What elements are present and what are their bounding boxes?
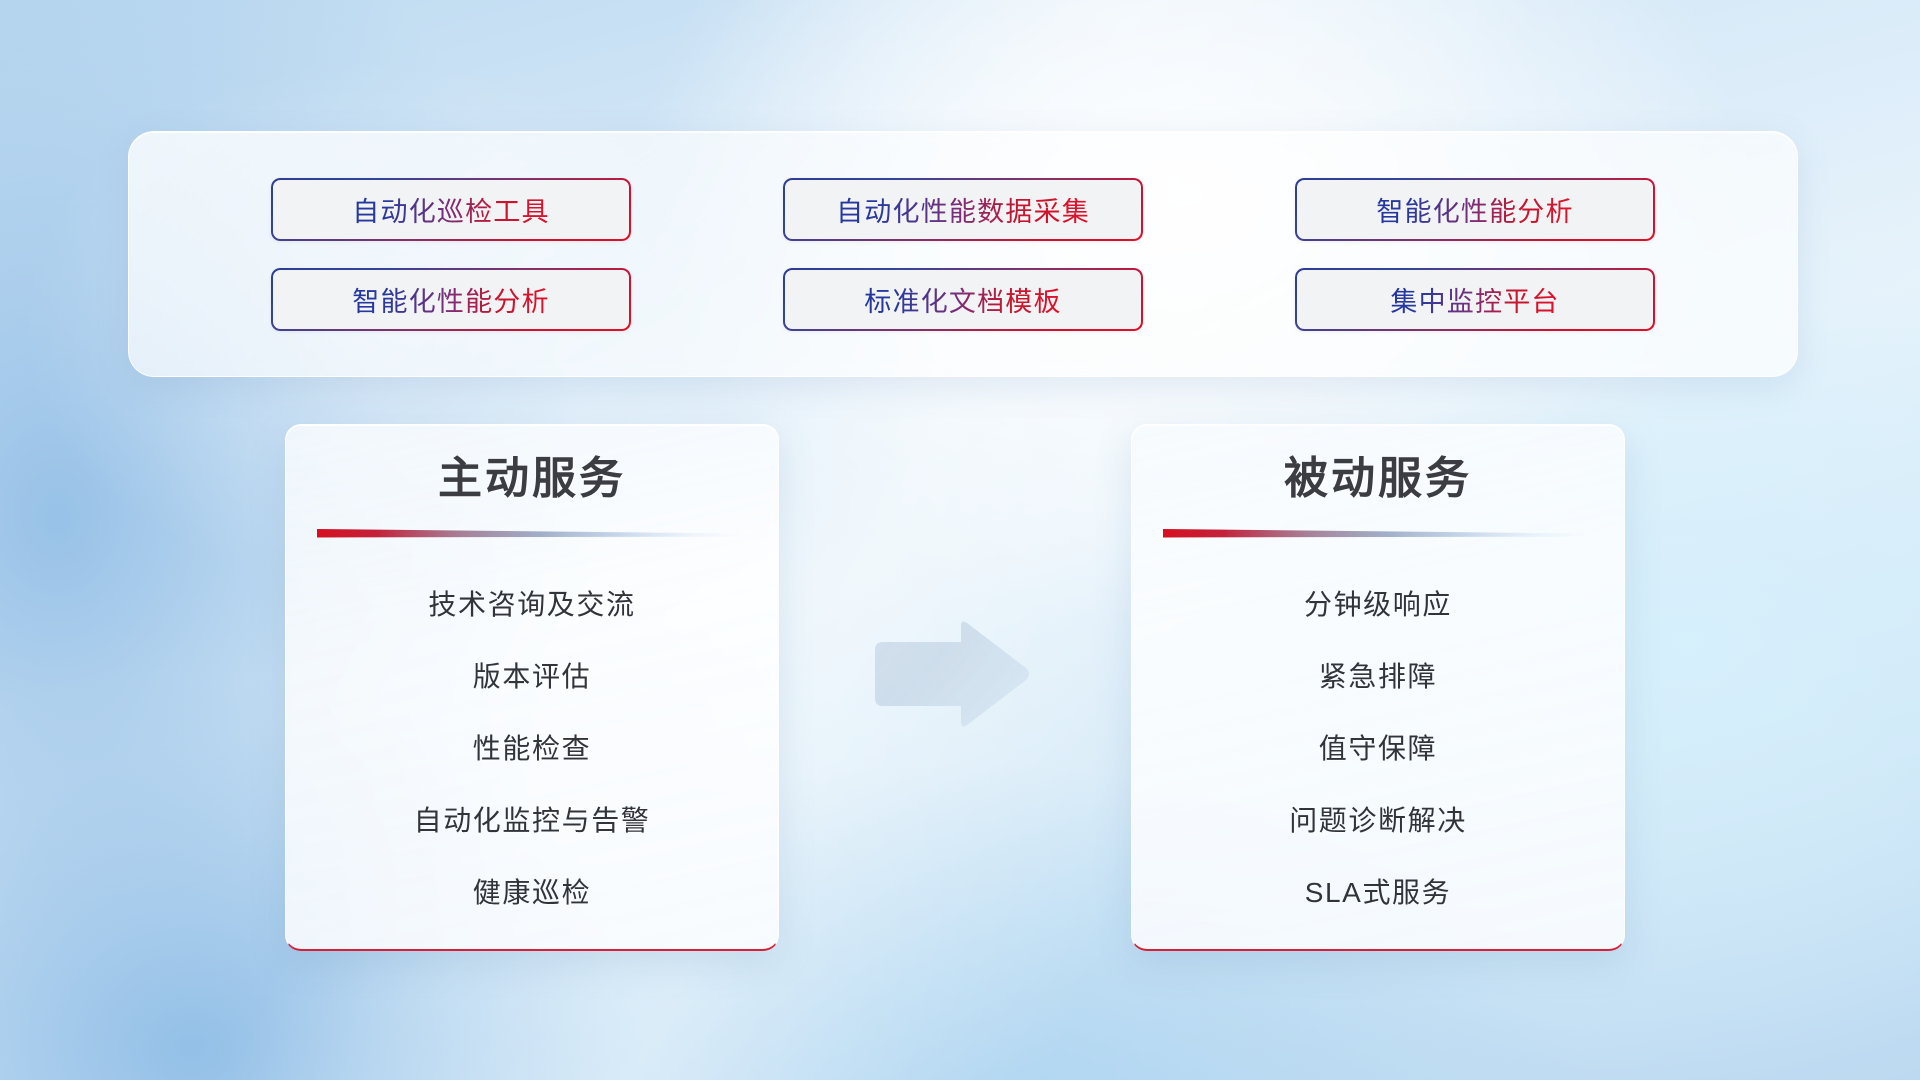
list-item[interactable]: 健康巡检 (473, 855, 591, 927)
list-item[interactable]: 值守保障 (1319, 711, 1437, 783)
capability-cell: 自动化性能数据采集 (707, 178, 1219, 241)
capability-tag-standardized-document-template[interactable]: 标准化文档模板 (783, 268, 1143, 331)
capability-tag-automated-inspection-tool[interactable]: 自动化巡检工具 (271, 178, 631, 241)
list-item[interactable]: 紧急排障 (1319, 639, 1437, 711)
capability-tag-automated-performance-data-collection[interactable]: 自动化性能数据采集 (783, 178, 1143, 241)
card-proactive-service[interactable]: 主动服务 技术咨询及交流 版本评估 性能检查 自动化监控与告警 健康巡检 (285, 424, 779, 951)
card-divider (1163, 527, 1593, 541)
arrow-right-icon (869, 618, 1031, 730)
capability-cell: 集中监控平台 (1219, 268, 1731, 331)
card-item-list: 技术咨询及交流 版本评估 性能检查 自动化监控与告警 健康巡检 (286, 567, 778, 927)
capability-tag-label: 自动化性能数据采集 (836, 190, 1090, 229)
list-item[interactable]: 分钟级响应 (1304, 567, 1452, 639)
card-title: 主动服务 (438, 451, 626, 506)
capability-tag-intelligent-performance-analysis[interactable]: 智能化性能分析 (1295, 178, 1655, 241)
capabilities-panel: 自动化巡检工具 自动化性能数据采集 智能化性能分析 智能化性能分析 标准化文档模… (128, 131, 1798, 377)
divider-taper-icon (317, 527, 747, 541)
divider-taper-icon (1163, 527, 1593, 541)
arrow-right-shape (869, 618, 1031, 730)
capability-tag-centralized-monitoring-platform[interactable]: 集中监控平台 (1295, 268, 1655, 331)
list-item[interactable]: 技术咨询及交流 (428, 567, 635, 639)
list-item[interactable]: 自动化监控与告警 (414, 783, 651, 855)
card-title: 被动服务 (1284, 451, 1472, 506)
list-item[interactable]: SLA式服务 (1305, 855, 1452, 927)
card-item-list: 分钟级响应 紧急排障 值守保障 问题诊断解决 SLA式服务 (1132, 567, 1624, 927)
capability-tag-label: 自动化巡检工具 (352, 190, 549, 229)
capability-row-1: 自动化巡检工具 自动化性能数据采集 智能化性能分析 (195, 178, 1731, 241)
capability-cell: 自动化巡检工具 (195, 178, 707, 241)
card-reactive-service[interactable]: 被动服务 分钟级响应 紧急排障 值守保障 问题诊断解决 SLA式服务 (1131, 424, 1625, 951)
capability-cell: 标准化文档模板 (707, 268, 1219, 331)
list-item[interactable]: 版本评估 (473, 639, 591, 711)
capability-cell: 智能化性能分析 (1219, 178, 1731, 241)
capability-tag-label: 智能化性能分析 (1376, 190, 1573, 229)
capability-row-2: 智能化性能分析 标准化文档模板 集中监控平台 (195, 268, 1731, 331)
list-item[interactable]: 性能检查 (473, 711, 591, 783)
capability-cell: 智能化性能分析 (195, 268, 707, 331)
capability-tag-label: 标准化文档模板 (864, 280, 1061, 319)
capability-tag-label: 智能化性能分析 (352, 280, 549, 319)
card-divider (317, 527, 747, 541)
capability-tag-label: 集中监控平台 (1390, 280, 1559, 319)
list-item[interactable]: 问题诊断解决 (1289, 783, 1467, 855)
capability-tag-intelligent-performance-analysis-2[interactable]: 智能化性能分析 (271, 268, 631, 331)
